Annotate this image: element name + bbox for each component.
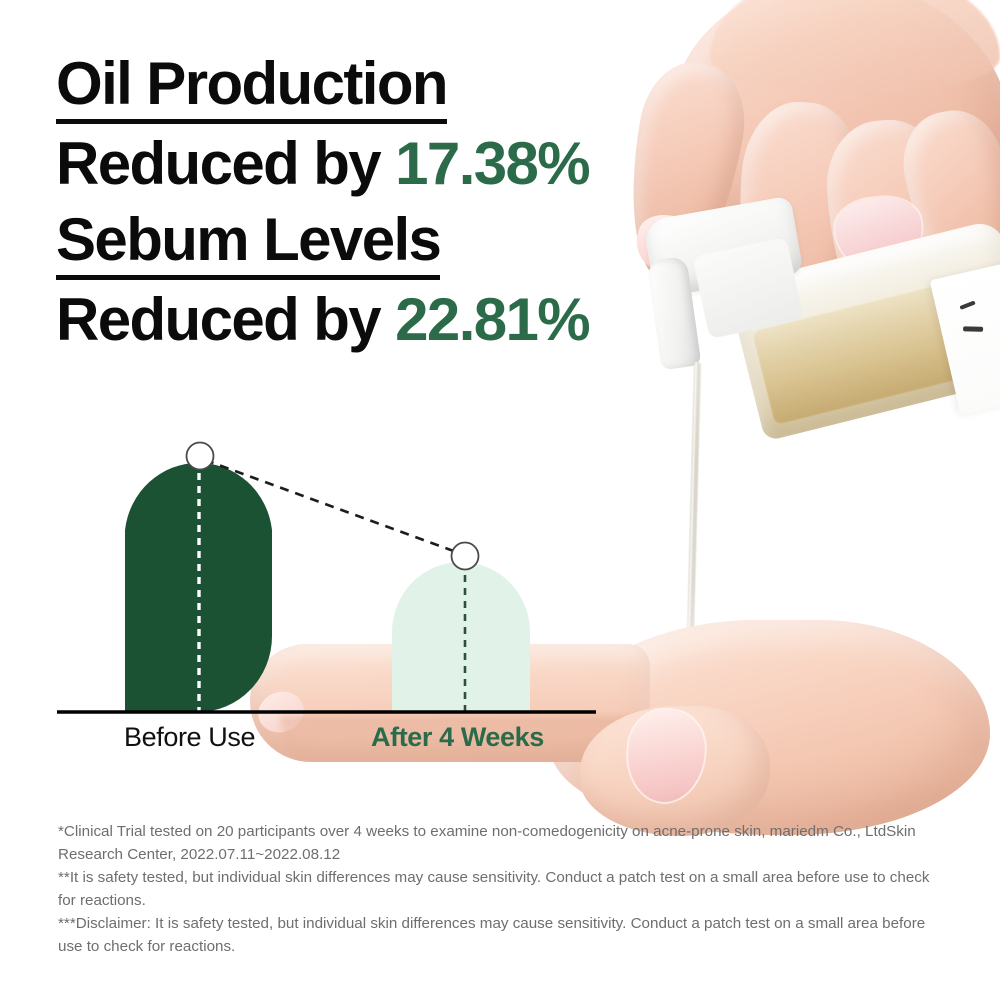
trend-connector-dash [205,460,459,553]
marker-before-use [187,443,214,470]
headline-title-row: Oil Production [56,54,589,124]
footnote-disclaimer: ***Disclaimer: It is safety tested, but … [58,912,948,958]
bar-before-use [125,463,272,712]
footnotes: *Clinical Trial tested on 20 participant… [58,820,948,959]
palm-fingernail [253,685,310,738]
bottle-oil-liquid [752,271,1000,425]
headline-claim-prefix: Reduced by [56,130,395,197]
headline-claim-value: 17.38% [395,130,589,197]
pump-nozzle [647,256,702,370]
bar-after-4-weeks [392,562,530,712]
headline-title: Sebum Levels [56,210,440,280]
pump-bottle-body [727,219,1000,442]
ring-finger [822,116,957,349]
headline-claim-value: 22.81% [395,286,589,353]
palm-thumbnail [623,706,708,805]
chart-label-before-use: Before Use [124,722,255,753]
headline-claim-row: Reduced by 17.38% [56,134,589,194]
headline-sebum-levels: Sebum Levels Reduced by 22.81% [56,210,589,350]
headline-title: Oil Production [56,54,447,124]
promo-graphic: Oil Production Reduced by 17.38% Sebum L… [0,0,1000,1000]
pinky-finger [893,102,1000,309]
middle-finger [729,98,864,356]
pump-head [642,196,803,299]
pump-collar [692,237,803,339]
hand-back [670,0,1000,230]
headline-claim-row: Reduced by 22.81% [56,290,589,350]
index-finger [614,55,755,290]
oil-stream [686,362,701,674]
footnote-safety: **It is safety tested, but individual sk… [58,866,948,912]
hand-pressing-pump-bottle-image [560,0,1000,410]
palm [550,620,990,835]
thumbnail [832,194,925,275]
chart-label-after-4-weeks: After 4 Weeks [371,722,544,753]
headline-title-row: Sebum Levels [56,210,589,280]
headline-claim-prefix: Reduced by [56,286,395,353]
bottle-label-glyph-icon [957,298,993,351]
headline-oil-production: Oil Production Reduced by 17.38% [56,54,589,194]
knuckles [710,0,1000,90]
palm-thumb [580,706,770,836]
bottle-label [930,259,1000,415]
index-fingernail [630,209,710,282]
marker-after-4-weeks [452,543,479,570]
footnote-clinical-trial: *Clinical Trial tested on 20 participant… [58,820,948,866]
